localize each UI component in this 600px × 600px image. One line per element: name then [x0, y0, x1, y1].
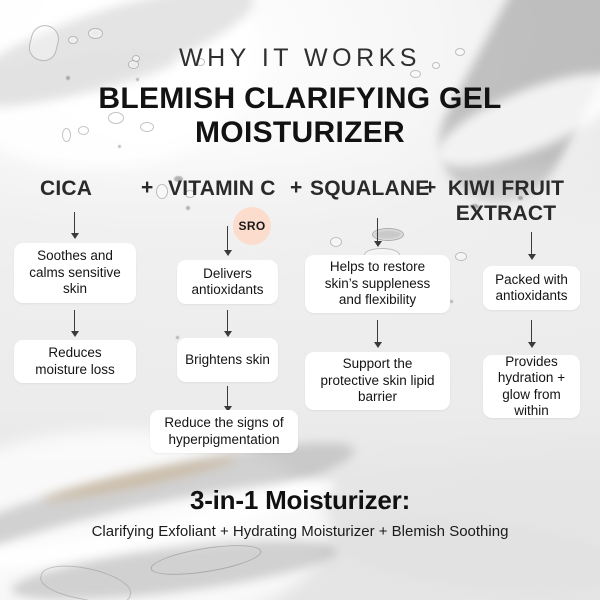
- arrow-down-icon: [69, 310, 80, 337]
- kiwi-line1: KIWI FRUIT: [448, 177, 564, 200]
- ingredient-heading-kiwi-fruit-extract: KIWI FRUIT EXTRACT: [446, 176, 566, 226]
- ingredient-header-row: CICA + VITAMIN C + SQUALANE + KIWI FRUIT…: [0, 176, 600, 236]
- ingredient-heading-vitamin-c: VITAMIN C: [168, 176, 276, 201]
- infographic-canvas: WHY IT WORKS BLEMISH CLARIFYING GEL MOIS…: [0, 0, 600, 600]
- page-eyebrow: WHY IT WORKS: [0, 44, 600, 73]
- benefit-box: Helps to restore skin’s suppleness and f…: [305, 255, 450, 313]
- arrow-down-icon: [372, 320, 383, 348]
- ingredient-heading-squalane: SQUALANE: [310, 176, 429, 201]
- page-title: BLEMISH CLARIFYING GEL MOISTURIZER: [0, 82, 600, 150]
- arrow-down-icon: [526, 320, 537, 348]
- benefit-box: Support the protective skin lipid barrie…: [305, 352, 450, 410]
- arrow-down-icon: [222, 226, 233, 256]
- arrow-down-icon: [222, 310, 233, 337]
- plus-separator-2: +: [290, 176, 302, 200]
- benefit-box: Provides hydration + glow from within: [483, 355, 580, 418]
- benefit-box: Reduce the signs of hyperpigmentation: [150, 410, 298, 453]
- page-title-line2: MOISTURIZER: [0, 116, 600, 150]
- arrow-down-icon: [526, 232, 537, 260]
- arrow-down-icon: [372, 218, 383, 247]
- benefit-box: Reduces moisture loss: [14, 340, 136, 383]
- benefit-box: Delivers antioxidants: [177, 260, 278, 304]
- kiwi-line2: EXTRACT: [456, 202, 557, 225]
- footer-title: 3-in-1 Moisturizer:: [0, 485, 600, 516]
- benefit-box: Brightens skin: [177, 338, 278, 382]
- ingredient-heading-cica: CICA: [40, 176, 92, 201]
- page-title-line1: BLEMISH CLARIFYING GEL: [98, 82, 501, 115]
- arrow-down-icon: [69, 212, 80, 239]
- plus-separator-3: +: [424, 176, 436, 200]
- benefit-box: Packed with antioxidants: [483, 266, 580, 310]
- sro-badge: SRO: [233, 207, 271, 245]
- benefit-box: Soothes and calms sensitive skin: [14, 243, 136, 303]
- footer-subtitle: Clarifying Exfoliant + Hydrating Moistur…: [0, 523, 600, 540]
- arrow-down-icon: [222, 386, 233, 412]
- plus-separator-1: +: [141, 176, 153, 200]
